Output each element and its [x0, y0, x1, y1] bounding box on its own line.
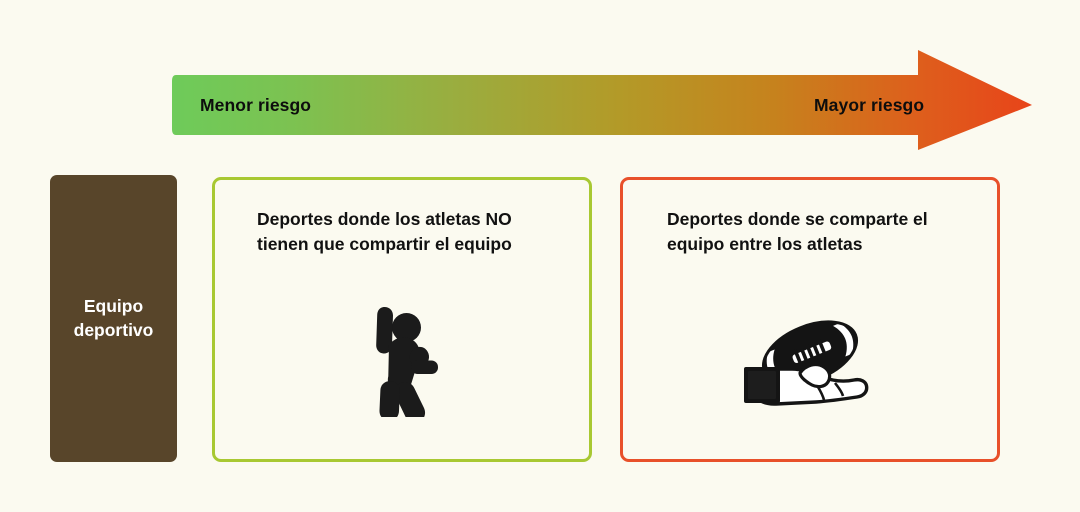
risk-scale-infographic: Menor riesgo Mayor riesgo Equipo deporti… [0, 0, 1080, 512]
risk-scale-low-label: Menor riesgo [200, 75, 311, 135]
low-risk-card-text: Deportes donde los atletas NO tienen que… [257, 207, 563, 258]
high-risk-card-text: Deportes donde se comparte el equipo ent… [667, 207, 975, 258]
hand-holding-football-icon [740, 315, 880, 411]
category-block: Equipo deportivo [50, 175, 177, 462]
category-label: Equipo deportivo [74, 295, 154, 342]
low-risk-card-icon [215, 305, 589, 417]
risk-scale-high-label: Mayor riesgo [814, 75, 924, 135]
exercising-athlete-icon [361, 305, 443, 417]
high-risk-card-icon [623, 315, 997, 411]
low-risk-card: Deportes donde los atletas NO tienen que… [212, 177, 592, 462]
high-risk-card: Deportes donde se comparte el equipo ent… [620, 177, 1000, 462]
